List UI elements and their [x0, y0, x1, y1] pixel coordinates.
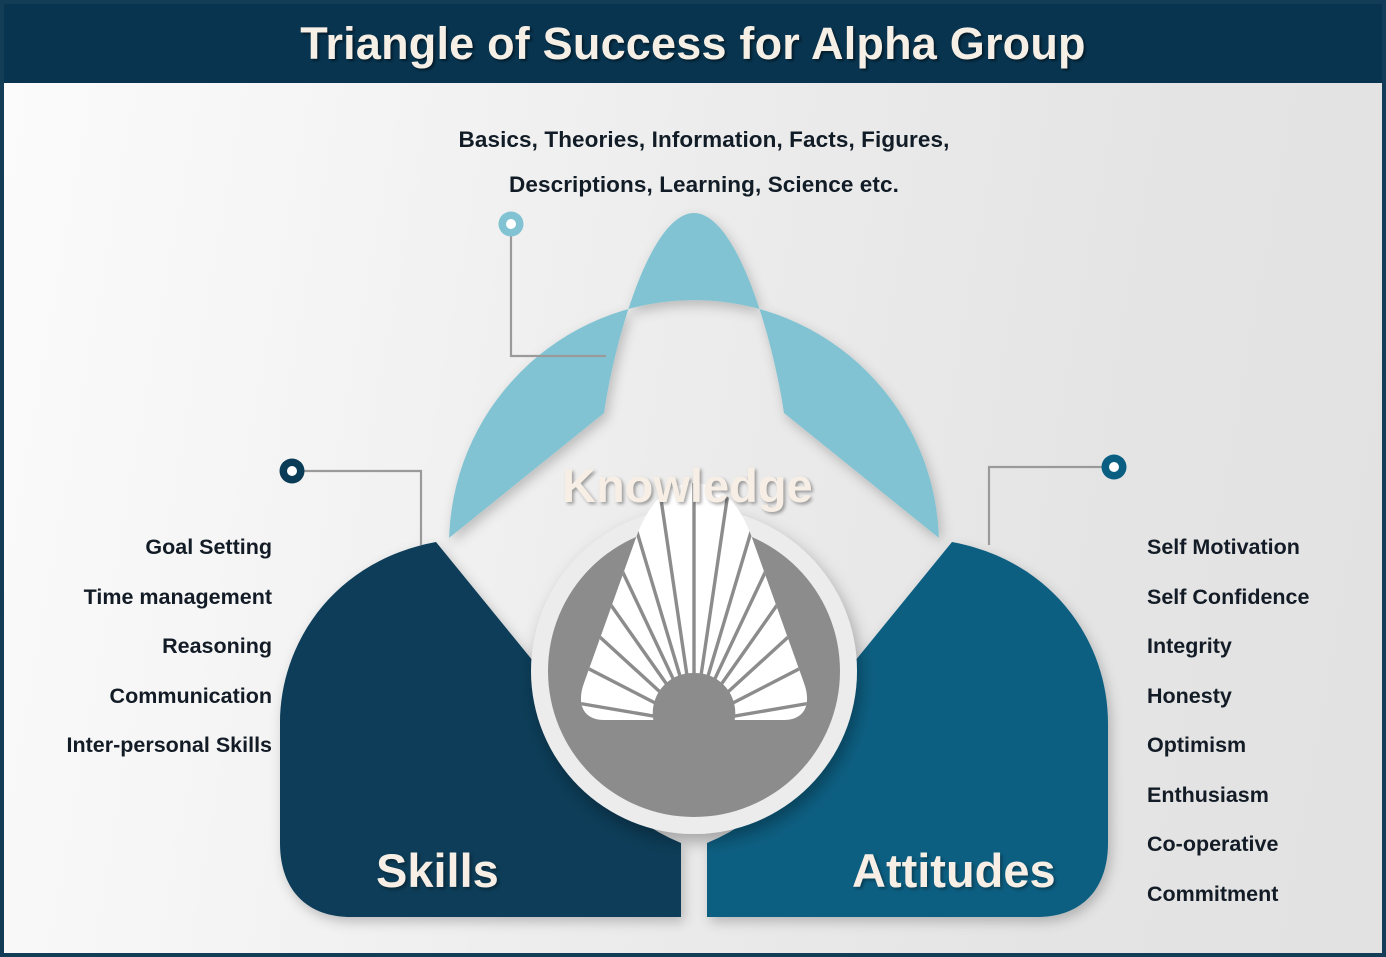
connector-skills	[298, 471, 421, 545]
list-item: Commitment	[1147, 870, 1382, 920]
list-item: Self Motivation	[1147, 523, 1382, 573]
list-item: Reasoning	[4, 622, 272, 672]
skills-item-list: Goal Setting Time management Reasoning C…	[4, 523, 272, 771]
segment-label-attitudes: Attitudes	[852, 843, 1056, 898]
diagram-page: Triangle of Success for Alpha Group	[0, 0, 1386, 957]
list-item: Goal Setting	[4, 523, 272, 573]
title-bar: Triangle of Success for Alpha Group	[4, 4, 1382, 83]
attitudes-item-list: Self Motivation Self Confidence Integrit…	[1147, 523, 1382, 919]
list-item: Time management	[4, 573, 272, 623]
list-item: Integrity	[1147, 622, 1382, 672]
list-item: Communication	[4, 672, 272, 722]
connector-attitudes	[989, 467, 1102, 545]
list-item: Honesty	[1147, 672, 1382, 722]
page-title: Triangle of Success for Alpha Group	[300, 18, 1085, 70]
knowledge-annotation: Basics, Theories, Information, Facts, Fi…	[404, 117, 1004, 207]
list-item: Inter-personal Skills	[4, 721, 272, 771]
diagram-canvas: Basics, Theories, Information, Facts, Fi…	[4, 83, 1382, 953]
segment-label-skills: Skills	[376, 843, 499, 898]
segment-label-knowledge: Knowledge	[562, 458, 813, 513]
list-item: Enthusiasm	[1147, 771, 1382, 821]
marker-attitudes-center	[1109, 462, 1119, 472]
marker-skills-center	[287, 466, 297, 476]
list-item: Optimism	[1147, 721, 1382, 771]
knowledge-annotation-line1: Basics, Theories, Information, Facts, Fi…	[404, 117, 1004, 162]
list-item: Co-operative	[1147, 820, 1382, 870]
center-logo[interactable]	[531, 473, 857, 834]
list-item: Self Confidence	[1147, 573, 1382, 623]
knowledge-annotation-line2: Descriptions, Learning, Science etc.	[404, 162, 1004, 207]
marker-knowledge-center	[506, 219, 516, 229]
